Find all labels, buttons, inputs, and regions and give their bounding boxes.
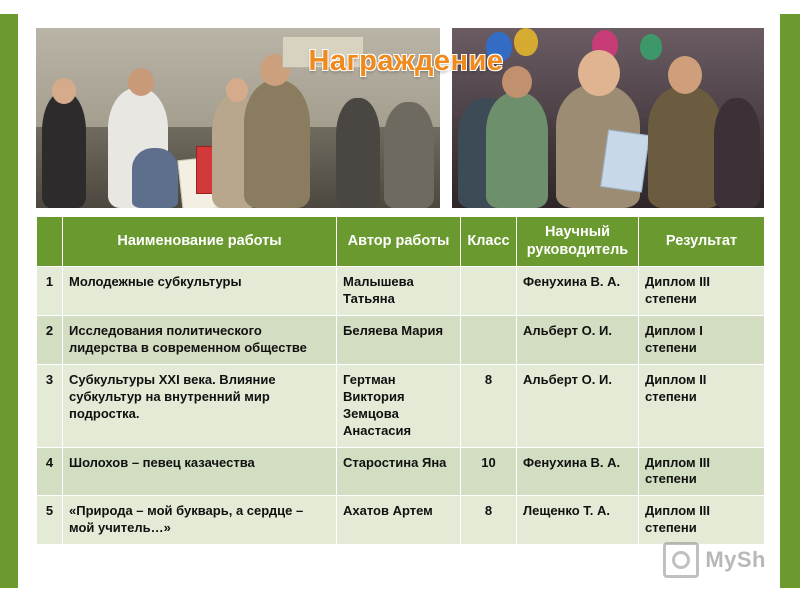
cell-class: 8 xyxy=(461,496,517,545)
cell-result: Диплом III степени xyxy=(639,496,765,545)
photo-person-silhouette xyxy=(336,98,380,208)
photo-balloon xyxy=(640,34,662,60)
cell-class xyxy=(461,316,517,365)
awards-table-container: Наименование работы Автор работы Класс Н… xyxy=(36,216,764,545)
presentation-slide: Награждение Наименование работы Автор ра… xyxy=(0,0,800,600)
photo-person-head xyxy=(578,50,620,96)
photo-person-silhouette xyxy=(384,102,434,208)
photo-person-silhouette xyxy=(42,92,86,208)
column-header-result: Результат xyxy=(639,217,765,267)
photo-certificate xyxy=(600,129,650,192)
photo-person-silhouette xyxy=(648,86,722,208)
cell-supervisor: Альберт О. И. xyxy=(517,364,639,447)
cell-author: Гертман Виктория Земцова Анастасия xyxy=(337,364,461,447)
cell-result: Диплом I степени xyxy=(639,316,765,365)
photo-person-silhouette xyxy=(714,98,760,208)
photo-person-silhouette xyxy=(486,92,548,208)
cell-work-name: Субкультуры XXI века. Влияние субкультур… xyxy=(63,364,337,447)
cell-work-name: Исследования политического лидерства в с… xyxy=(63,316,337,365)
photo-person-head xyxy=(52,78,76,104)
cell-result: Диплом II степени xyxy=(639,364,765,447)
cell-number: 1 xyxy=(37,267,63,316)
slide-frame-right xyxy=(780,0,800,600)
photo-person-head xyxy=(668,56,702,94)
cell-number: 3 xyxy=(37,364,63,447)
cell-supervisor: Фенухина В. А. xyxy=(517,447,639,496)
cell-class: 10 xyxy=(461,447,517,496)
table-row: 1 Молодежные субкультуры Малышева Татьян… xyxy=(37,267,765,316)
awards-table: Наименование работы Автор работы Класс Н… xyxy=(36,216,765,545)
cell-supervisor: Фенухина В. А. xyxy=(517,267,639,316)
cell-supervisor: Альберт О. И. xyxy=(517,316,639,365)
table-row: 4 Шолохов – певец казачества Старостина … xyxy=(37,447,765,496)
cell-class xyxy=(461,267,517,316)
column-header-number xyxy=(37,217,63,267)
column-header-work-name: Наименование работы xyxy=(63,217,337,267)
column-header-author: Автор работы xyxy=(337,217,461,267)
table-row: 5 «Природа – мой букварь, а сердце – мой… xyxy=(37,496,765,545)
table-header-row: Наименование работы Автор работы Класс Н… xyxy=(37,217,765,267)
cell-work-name: «Природа – мой букварь, а сердце – мой у… xyxy=(63,496,337,545)
cell-number: 4 xyxy=(37,447,63,496)
slide-frame-left xyxy=(0,0,18,600)
cell-author: Беляева Мария xyxy=(337,316,461,365)
cell-work-name: Молодежные субкультуры xyxy=(63,267,337,316)
cell-number: 5 xyxy=(37,496,63,545)
slide-bottom-mask xyxy=(18,582,780,588)
photo-person-head xyxy=(128,68,154,96)
cell-result: Диплом III степени xyxy=(639,447,765,496)
cell-author: Старостина Яна xyxy=(337,447,461,496)
photo-person-legs xyxy=(132,148,178,208)
photo-person-head xyxy=(226,78,248,102)
table-row: 2 Исследования политического лидерства в… xyxy=(37,316,765,365)
table-row: 3 Субкультуры XXI века. Влияние субкульт… xyxy=(37,364,765,447)
slide-frame-top xyxy=(0,0,800,14)
cell-supervisor: Лещенко Т. А. xyxy=(517,496,639,545)
cell-work-name: Шолохов – певец казачества xyxy=(63,447,337,496)
photo-person-silhouette xyxy=(244,80,310,208)
cell-class: 8 xyxy=(461,364,517,447)
cell-result: Диплом III степени xyxy=(639,267,765,316)
slide-title: Награждение xyxy=(272,42,540,80)
slide-frame-bottom xyxy=(0,588,800,600)
cell-author: Малышева Татьяна xyxy=(337,267,461,316)
column-header-supervisor: Научный руководитель xyxy=(517,217,639,267)
cell-number: 2 xyxy=(37,316,63,365)
column-header-class: Класс xyxy=(461,217,517,267)
cell-author: Ахатов Артем xyxy=(337,496,461,545)
